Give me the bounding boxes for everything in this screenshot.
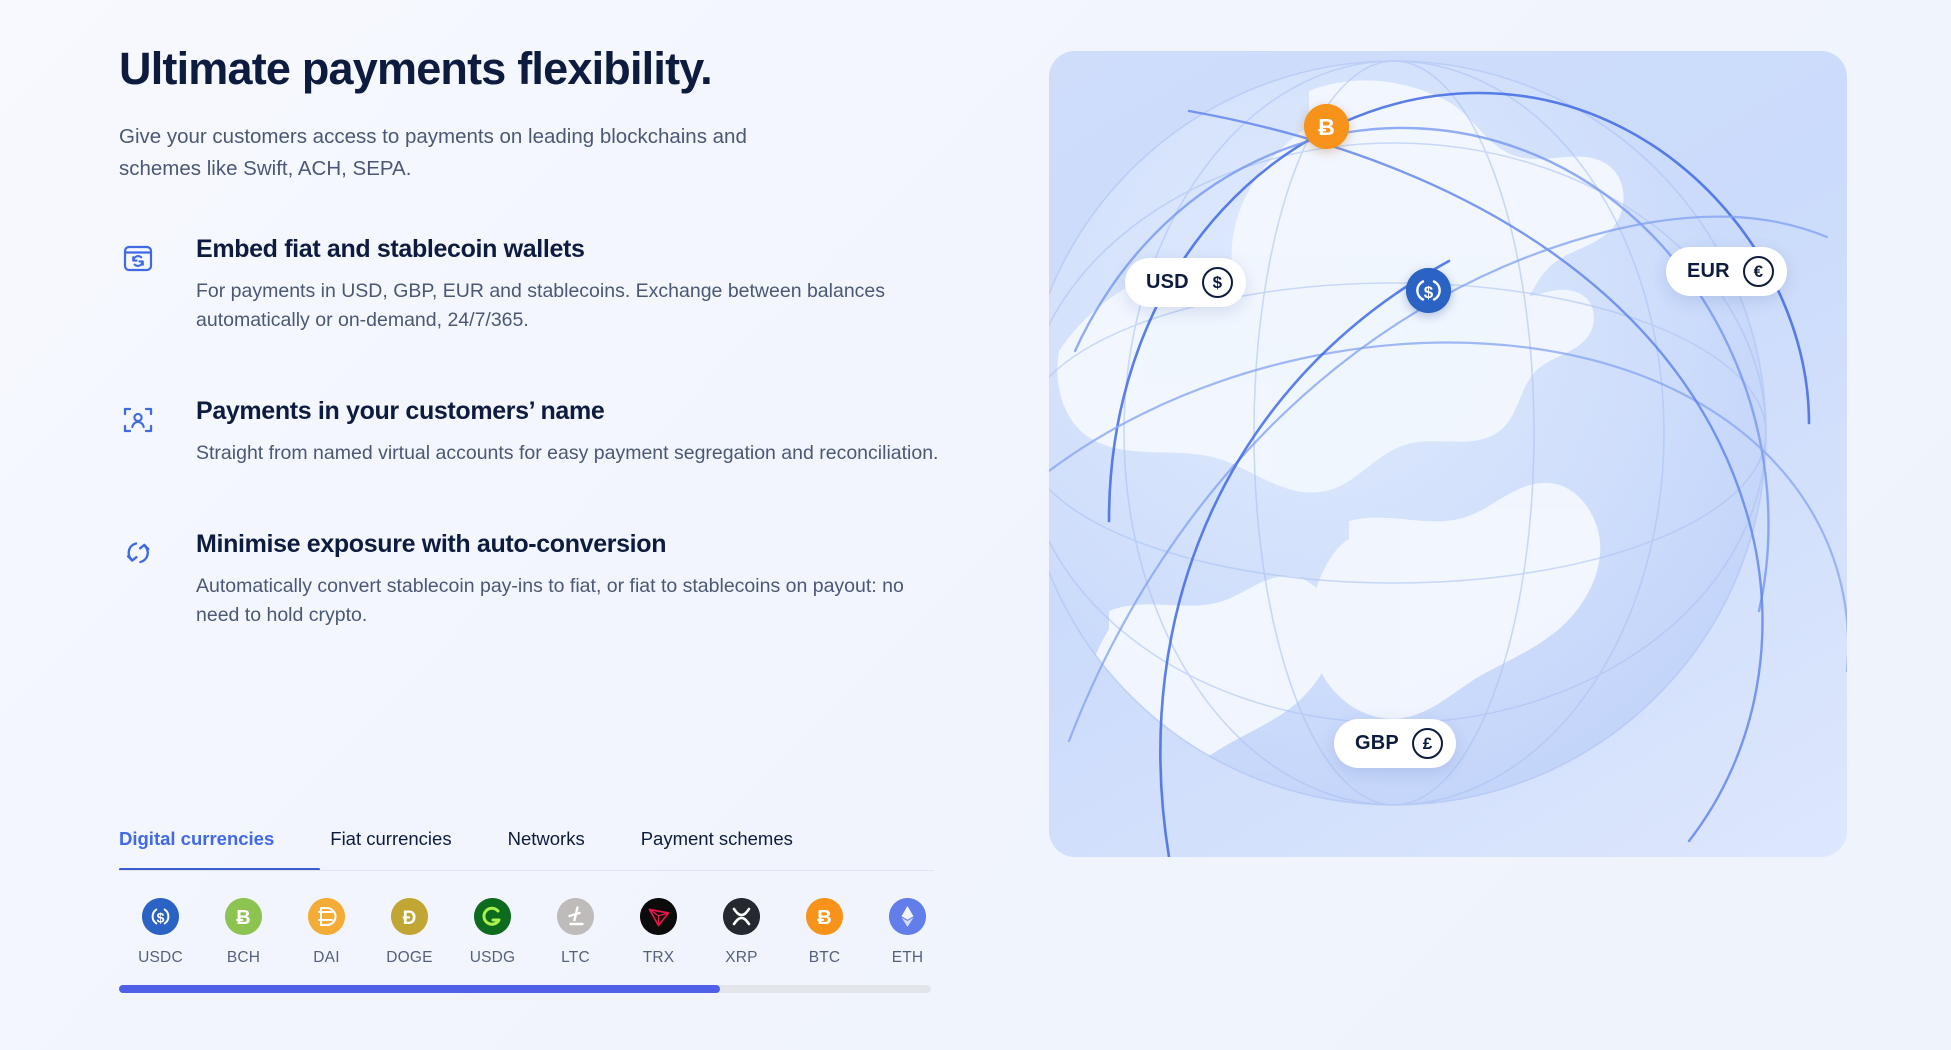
page-title: Ultimate payments flexibility. [119,44,939,94]
pound-sign-icon: £ [1412,728,1443,759]
dai-icon [308,898,345,935]
svg-text:$: $ [1424,283,1434,302]
tab-fiat-currencies[interactable]: Fiat currencies [330,828,451,871]
left-content: Ultimate payments flexibility. Give your… [119,44,939,630]
coin-label: LTC [561,949,590,967]
page-root: Ultimate payments flexibility. Give your… [0,0,1951,1050]
coin-item-xrp[interactable]: XRP [700,898,783,967]
eth-icon [889,898,926,935]
feature-title: Payments in your customers’ name [196,397,939,426]
usdg-icon [474,898,511,935]
coin-label: DAI [313,949,339,967]
svg-text:Ƀ: Ƀ [236,907,250,929]
usd-badge-label: USD [1146,271,1189,294]
tab-networks[interactable]: Networks [508,828,585,871]
feature-title: Minimise exposure with auto-conversion [196,530,939,559]
svg-text:Ƀ: Ƀ [1318,114,1335,140]
coin-label: TRX [643,949,675,967]
bch-icon: Ƀ [225,898,262,935]
feature-title: Embed fiat and stablecoin wallets [196,235,939,264]
feature-body: Straight from named virtual accounts for… [196,439,939,468]
coin-item-usdg[interactable]: USDG [451,898,534,967]
currency-icon-row: $ USDC Ƀ BCH DAI [119,898,949,967]
coin-item-ltc[interactable]: LTC [534,898,617,967]
euro-sign-icon: € [1743,256,1774,287]
usdc-icon: $ [142,898,179,935]
bitcoin-token[interactable]: Ƀ [1304,104,1349,149]
currency-scrollbar-thumb[interactable] [119,985,720,993]
doge-icon: Ð [391,898,428,935]
coin-label: USDG [470,949,516,967]
svg-text:$: $ [157,910,165,926]
coin-item-btc[interactable]: Ƀ BTC [783,898,866,967]
coin-item-doge[interactable]: Ð DOGE [368,898,451,967]
trx-icon [640,898,677,935]
coin-item-eth[interactable]: ETH [866,898,949,967]
globe-illustration-card: Ƀ $ USD $ EUR € GBP £ [1049,51,1847,857]
feature-body: For payments in USD, GBP, EUR and stable… [196,277,939,336]
usd-badge[interactable]: USD $ [1125,258,1246,307]
feature-list: Embed fiat and stablecoin wallets For pa… [119,235,939,631]
auto-conversion-arrows-icon [119,534,157,572]
svg-text:Ƀ: Ƀ [817,907,831,929]
currency-tabs: Digital currencies Fiat currencies Netwo… [119,828,934,871]
coin-label: USDC [138,949,183,967]
xrp-icon [723,898,760,935]
usdc-token[interactable]: $ [1406,268,1451,313]
gbp-badge-label: GBP [1355,732,1399,755]
ltc-icon [557,898,594,935]
btc-icon: Ƀ [806,898,843,935]
feature-item-wallets: Embed fiat and stablecoin wallets For pa… [119,235,939,335]
eur-badge-label: EUR [1687,260,1730,283]
coin-item-bch[interactable]: Ƀ BCH [202,898,285,967]
svg-text:Ð: Ð [403,908,417,929]
coin-item-usdc[interactable]: $ USDC [119,898,202,967]
tab-digital-currencies[interactable]: Digital currencies [119,828,274,871]
wallet-exchange-icon [119,239,157,277]
coin-item-dai[interactable]: DAI [285,898,368,967]
feature-item-named-payments: Payments in your customers’ name Straigh… [119,397,939,468]
feature-body: Automatically convert stablecoin pay-ins… [196,572,939,631]
named-account-scan-icon [119,401,157,439]
feature-item-auto-conversion: Minimise exposure with auto-conversion A… [119,530,939,630]
gbp-badge[interactable]: GBP £ [1334,719,1456,768]
coin-label: BTC [809,949,841,967]
eur-badge[interactable]: EUR € [1666,247,1787,296]
currency-tabs-container: Digital currencies Fiat currencies Netwo… [119,828,934,871]
coin-label: XRP [725,949,757,967]
coin-label: DOGE [386,949,432,967]
tab-payment-schemes[interactable]: Payment schemes [641,828,793,871]
coin-item-trx[interactable]: TRX [617,898,700,967]
tabs-divider [119,870,934,871]
page-subtitle: Give your customers access to payments o… [119,121,799,185]
coin-label: BCH [227,949,260,967]
dollar-sign-icon: $ [1202,267,1233,298]
currency-scrollbar-track[interactable] [119,985,931,993]
coin-label: ETH [892,949,924,967]
